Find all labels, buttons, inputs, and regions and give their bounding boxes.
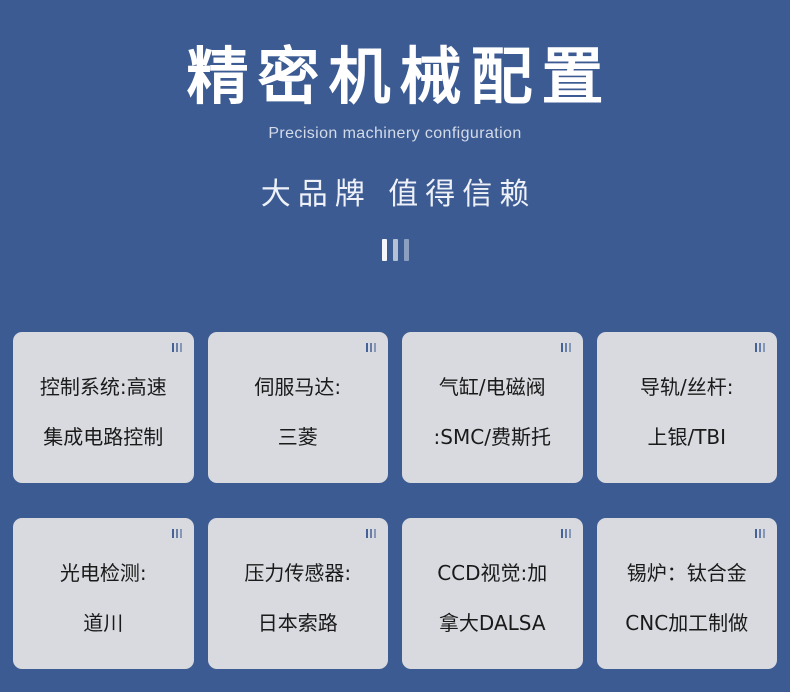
spec-card-line-2: 上银/TBI	[647, 425, 726, 449]
spec-card-cylinder-solenoid-valve: 气缸/电磁阀 :SMC/费斯托	[402, 332, 583, 483]
spec-card-line-1: 光电检测:	[60, 561, 147, 585]
subtitle-chinese: 大品牌 值得信赖	[0, 169, 790, 213]
spec-card-line-1: 伺服马达:	[254, 375, 341, 399]
spec-card-solder-furnace: 锡炉：钛合金 CNC加工制做	[597, 518, 778, 669]
triple-bar-icon	[366, 343, 376, 352]
triple-bar-icon	[172, 343, 182, 352]
triple-bar-icon	[377, 239, 413, 261]
spec-card-line-2: :SMC/费斯托	[434, 425, 551, 449]
precision-machinery-banner: 精密机械配置 Precision machinery configuration…	[0, 0, 790, 692]
spec-card-line-1: 锡炉：钛合金	[627, 561, 747, 585]
spec-card-pressure-sensor: 压力传感器: 日本索路	[208, 518, 389, 669]
subtitle-english: Precision machinery configuration	[0, 125, 790, 143]
spec-card-control-system: 控制系统:高速 集成电路控制	[13, 332, 194, 483]
triple-bar-icon	[561, 529, 571, 538]
triple-bar-icon	[755, 343, 765, 352]
spec-card-line-2: CNC加工制做	[625, 611, 748, 635]
triple-bar-icon	[366, 529, 376, 538]
triple-bar-icon	[172, 529, 182, 538]
triple-bar-icon	[561, 343, 571, 352]
spec-card-line-1: 导轨/丝杆:	[640, 375, 733, 399]
spec-card-line-2: 道川	[83, 611, 123, 635]
triple-bar-icon	[755, 529, 765, 538]
spec-card-photoelectric-detection: 光电检测: 道川	[13, 518, 194, 669]
spec-card-ccd-vision: CCD视觉:加 拿大DALSA	[402, 518, 583, 669]
spec-card-line-1: 控制系统:高速	[40, 375, 167, 399]
spec-card-line-2: 集成电路控制	[43, 425, 163, 449]
spec-card-line-2: 三菱	[278, 425, 318, 449]
spec-card-grid: 控制系统:高速 集成电路控制 伺服马达: 三菱 气缸/电磁阀 :SMC/费斯托 …	[13, 332, 777, 669]
spec-card-line-2: 日本索路	[258, 611, 338, 635]
spec-card-guide-rail-screw: 导轨/丝杆: 上银/TBI	[597, 332, 778, 483]
spec-card-line-1: CCD视觉:加	[437, 561, 547, 585]
page-title: 精密机械配置	[0, 44, 790, 111]
banner-header: 精密机械配置 Precision machinery configuration…	[0, 0, 790, 261]
spec-card-line-1: 压力传感器:	[244, 561, 351, 585]
spec-card-servo-motor: 伺服马达: 三菱	[208, 332, 389, 483]
spec-card-line-2: 拿大DALSA	[439, 611, 546, 635]
spec-card-line-1: 气缸/电磁阀	[439, 375, 546, 399]
